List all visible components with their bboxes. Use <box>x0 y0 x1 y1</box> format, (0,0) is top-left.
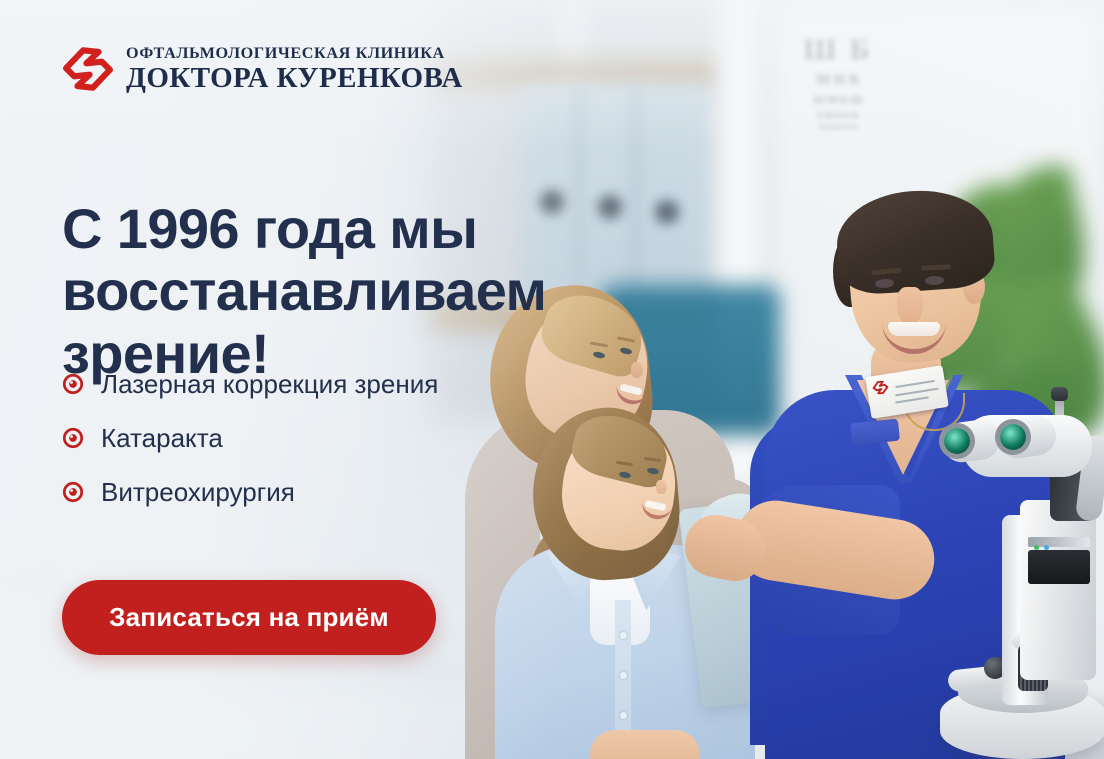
service-label: Лазерная коррекция зрения <box>101 368 438 400</box>
page-title: С 1996 года мы восстанавливаем зрение! <box>62 198 542 386</box>
list-item: Катаракта <box>62 422 482 454</box>
list-item: Витреохирургия <box>62 476 482 508</box>
promo-banner: Ш Б М Н К Ы М Б Ш Б М Н К Ы И Н Ш М К Ы <box>0 0 1104 759</box>
list-item: Лазерная коррекция зрения <box>62 368 482 400</box>
hero-content: ОФТАЛЬМОЛОГИЧЕСКАЯ КЛИНИКА ДОКТОРА КУРЕН… <box>0 0 560 759</box>
eye-icon <box>62 481 84 503</box>
service-label: Катаракта <box>101 422 223 454</box>
book-appointment-button[interactable]: Записаться на приём <box>62 580 436 655</box>
services-list: Лазерная коррекция зрения Катаракта <box>62 368 482 509</box>
service-label: Витреохирургия <box>101 476 295 508</box>
brand-logo-text: ОФТАЛЬМОЛОГИЧЕСКАЯ КЛИНИКА ДОКТОРА КУРЕН… <box>126 45 463 93</box>
brand-logo[interactable]: ОФТАЛЬМОЛОГИЧЕСКАЯ КЛИНИКА ДОКТОРА КУРЕН… <box>62 43 463 95</box>
brand-line-2: ДОКТОРА КУРЕНКОВА <box>126 64 463 93</box>
eye-icon <box>62 373 84 395</box>
kurenkov-eye-logo-icon <box>62 43 114 95</box>
eye-icon <box>62 427 84 449</box>
brand-line-1: ОФТАЛЬМОЛОГИЧЕСКАЯ КЛИНИКА <box>126 45 463 61</box>
